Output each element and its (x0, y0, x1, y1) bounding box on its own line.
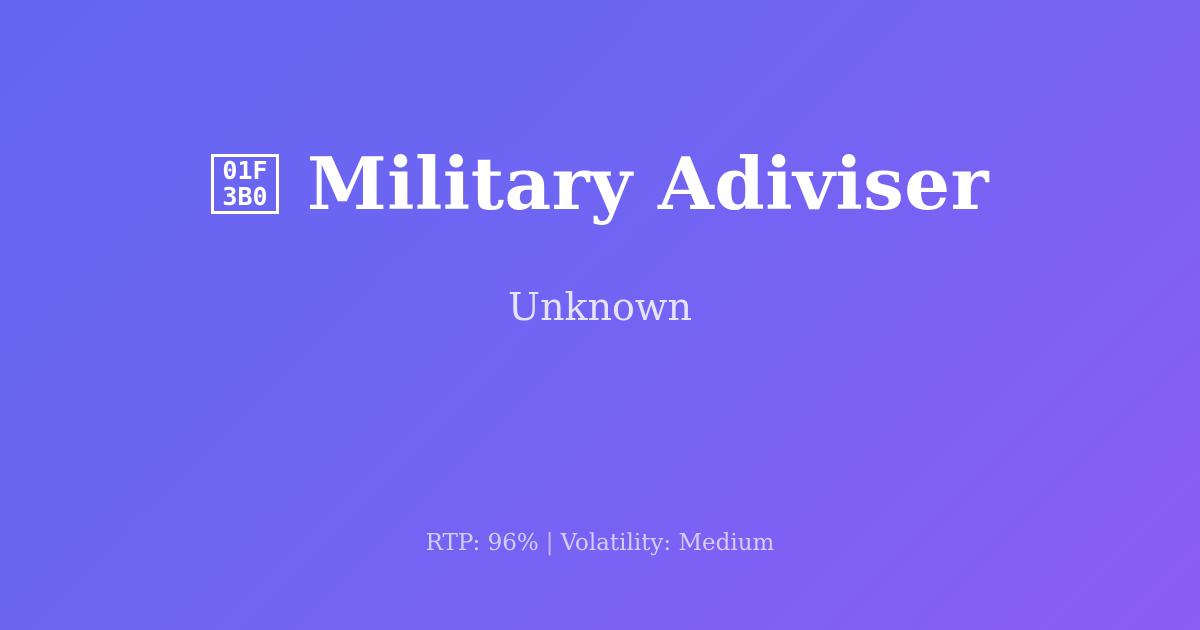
meta-separator: | (539, 530, 561, 556)
page-title: Military Adiviser (307, 141, 989, 227)
volatility-value: Medium (679, 530, 775, 556)
slot-machine-emoji-tofu-icon: 01F 3B0 (211, 154, 279, 214)
rtp-label: RTP: (426, 530, 481, 556)
title-row: 01F 3B0 Military Adiviser (60, 141, 1140, 227)
hero-block: 01F 3B0 Military Adiviser Unknown (0, 0, 1200, 470)
rtp-value: 96% (488, 530, 539, 556)
tofu-codepoint-bottom: 3B0 (222, 184, 267, 210)
game-stats-line: RTP: 96%|Volatility: Medium (426, 528, 775, 558)
footer-meta-row: RTP: 96%|Volatility: Medium (0, 528, 1200, 558)
page-subtitle: Unknown (508, 285, 692, 329)
og-share-card: 01F 3B0 Military Adiviser Unknown RTP: 9… (0, 0, 1200, 630)
volatility-label: Volatility: (560, 530, 671, 556)
tofu-codepoint-top: 01F (222, 158, 267, 184)
